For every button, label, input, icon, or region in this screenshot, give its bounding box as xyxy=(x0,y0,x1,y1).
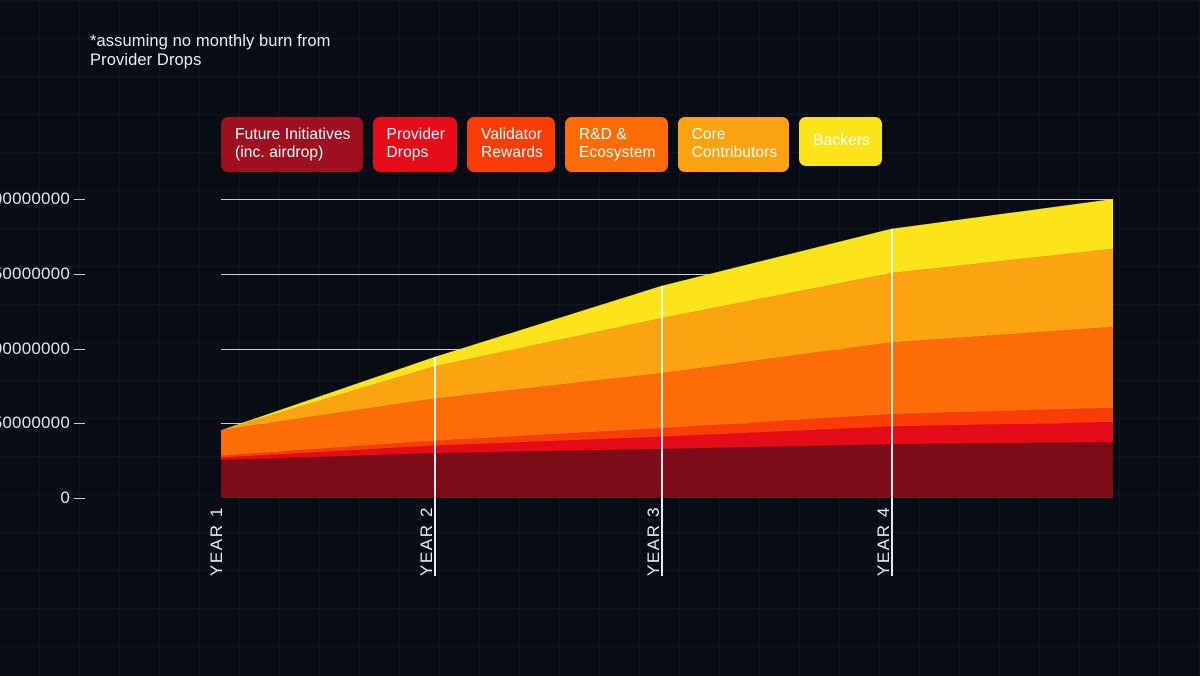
y-axis-tick-label: 0 xyxy=(60,488,70,507)
y-axis-tick-label: 1000000000 xyxy=(0,189,70,208)
y-axis-tick-label: 500000000 xyxy=(0,339,70,358)
x-axis-label-year-1: YEAR 1 xyxy=(207,506,227,576)
x-axis-label-year-2: YEAR 2 xyxy=(417,506,437,576)
y-axis-tick-label: 750000000 xyxy=(0,264,70,283)
y-axis-tick-label: 250000000 xyxy=(0,413,70,432)
y-axis-tick-3: 750000000 xyxy=(0,264,87,284)
y-axis-tick-mark xyxy=(74,498,85,499)
x-axis-label-year-4: YEAR 4 xyxy=(874,506,894,576)
y-axis-tick-4: 1000000000 xyxy=(0,189,87,209)
y-axis-tick-1: 250000000 xyxy=(0,413,87,433)
plot-area xyxy=(221,199,1113,498)
y-axis-tick-2: 500000000 xyxy=(0,339,87,359)
y-axis-tick-mark xyxy=(74,349,85,350)
y-axis-tick-mark xyxy=(74,274,85,275)
y-axis-tick-0: 0 xyxy=(60,488,87,508)
stacked-area-chart: 02500000005000000007500000001000000000 Y… xyxy=(0,0,1200,676)
x-axis-label-year-3: YEAR 3 xyxy=(644,506,664,576)
area-series-group xyxy=(221,199,1113,498)
y-axis-tick-mark xyxy=(74,199,85,200)
y-axis-tick-mark xyxy=(74,423,85,424)
